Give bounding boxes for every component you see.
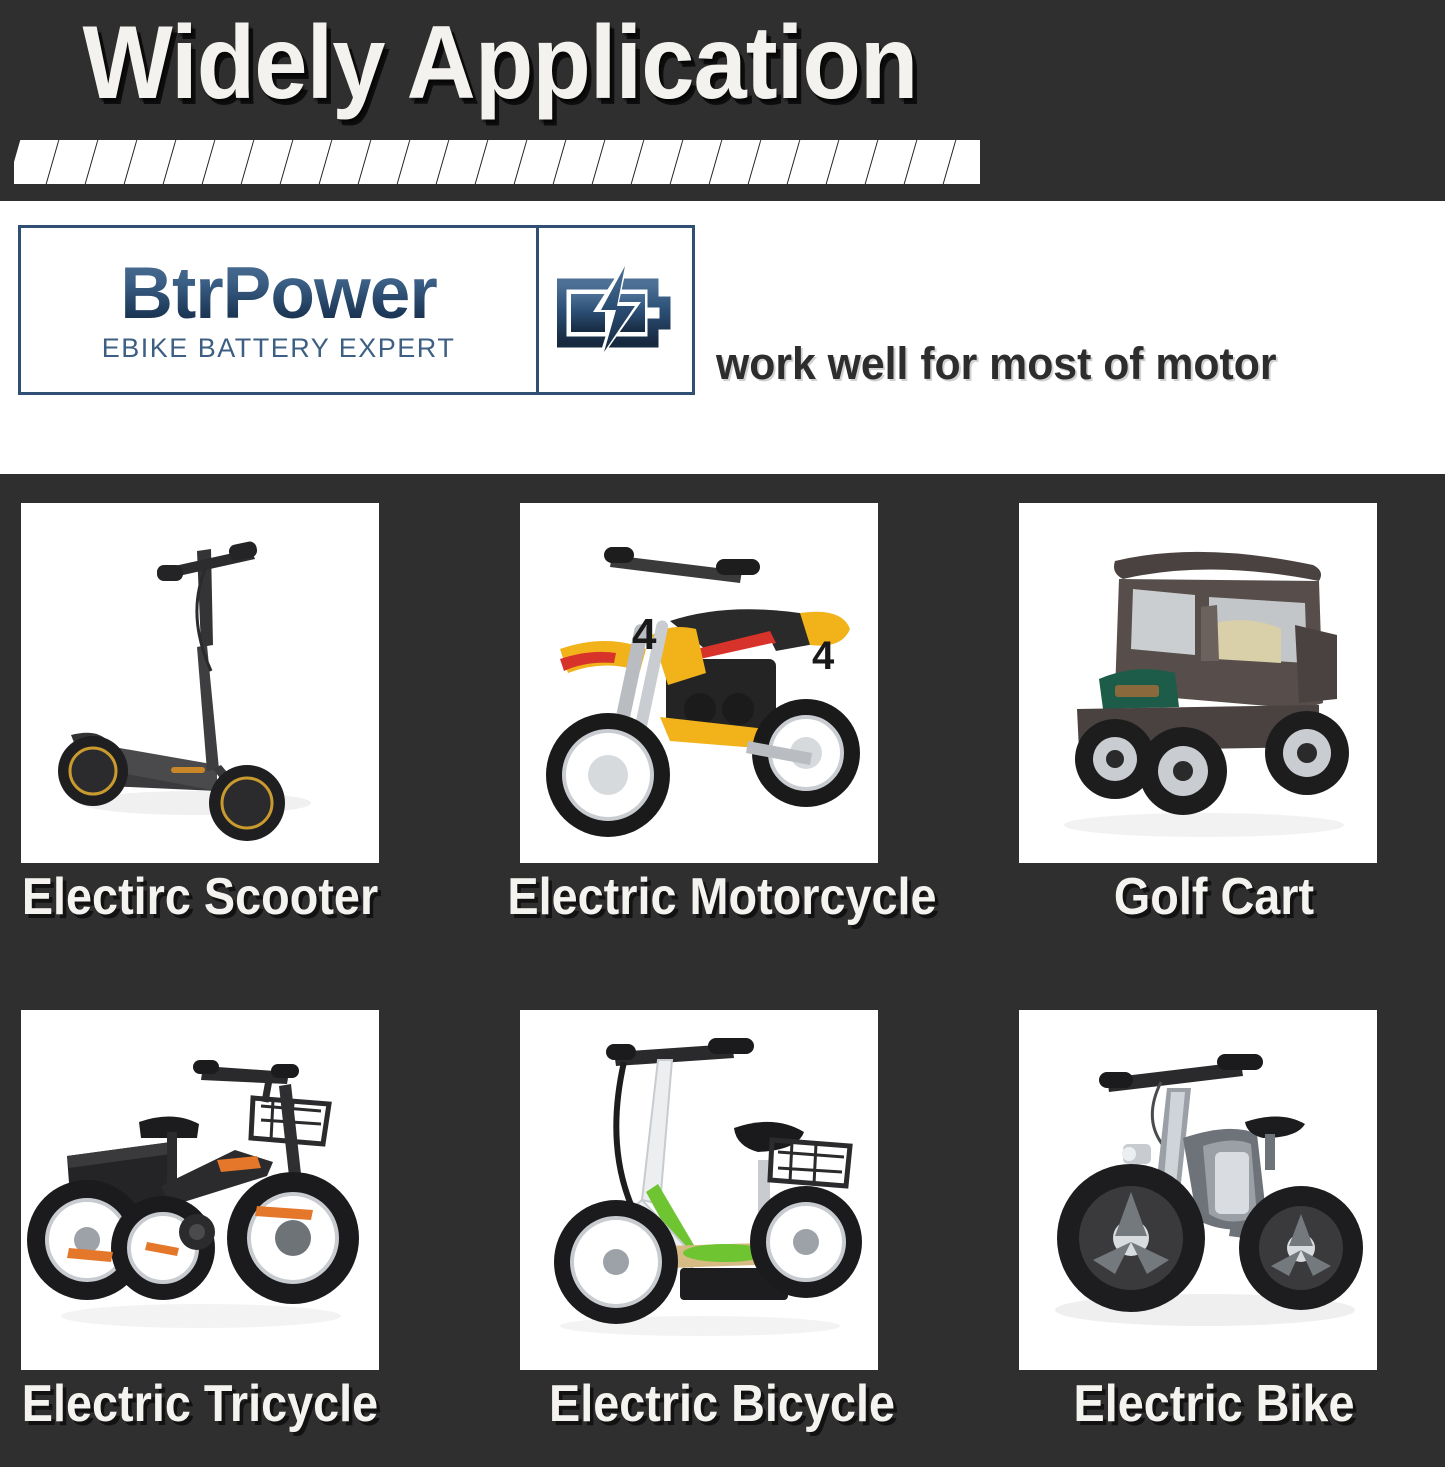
grid-item-golf-cart[interactable]: Golf Cart — [964, 475, 1445, 960]
electric-scooter-image — [21, 503, 379, 863]
grid-item-label: Golf Cart — [1007, 867, 1421, 927]
logo-wordmark-group: BtrPower EBIKE BATTERY EXPERT — [21, 228, 539, 392]
logo-subtitle: EBIKE BATTERY EXPERT — [102, 333, 456, 363]
grid-item-electric-tricycle[interactable]: Electric Tricycle — [0, 982, 482, 1467]
golf-cart-image — [1019, 503, 1377, 863]
grid-item-label: Electric Bicycle — [470, 1374, 974, 1434]
header: Widely Application — [0, 0, 1445, 200]
svg-text:4: 4 — [812, 634, 835, 678]
application-grid: Electirc Scooter — [0, 475, 1445, 1445]
grid-item-label: Electric Motorcycle — [470, 867, 974, 927]
grid-item-electric-bicycle[interactable]: Electric Bicycle — [482, 982, 964, 1467]
logo-wordmark: BtrPower — [120, 257, 437, 331]
grid-item-electric-motorcycle[interactable]: 4 4 Electric Motorcycle — [482, 475, 964, 960]
grid-item-label: Electric Tricycle — [20, 1374, 380, 1434]
grid-item-label: Electric Bike — [1007, 1374, 1421, 1434]
grid-item-label: Electirc Scooter — [20, 867, 380, 927]
page-title: Widely Application — [40, 8, 960, 118]
electric-tricycle-image — [21, 1010, 379, 1370]
logo-icon-area — [539, 228, 692, 392]
brand-tagline: work well for most of motor — [716, 340, 1277, 388]
stripe-divider — [14, 140, 980, 184]
grid-item-electric-bike[interactable]: Electric Bike — [964, 982, 1445, 1467]
battery-lightning-icon — [557, 254, 675, 366]
promo-banner: Widely Application BtrPower EBIKE BATTER… — [0, 0, 1445, 1445]
svg-text:4: 4 — [632, 610, 657, 659]
electric-bicycle-image — [520, 1010, 878, 1370]
electric-bike-image — [1019, 1010, 1377, 1370]
electric-motorcycle-image: 4 4 — [520, 503, 878, 863]
grid-item-electric-scooter[interactable]: Electirc Scooter — [0, 475, 482, 960]
brand-logo: BtrPower EBIKE BATTERY EXPERT — [18, 225, 695, 395]
brand-band: BtrPower EBIKE BATTERY EXPERT — [0, 201, 1445, 474]
